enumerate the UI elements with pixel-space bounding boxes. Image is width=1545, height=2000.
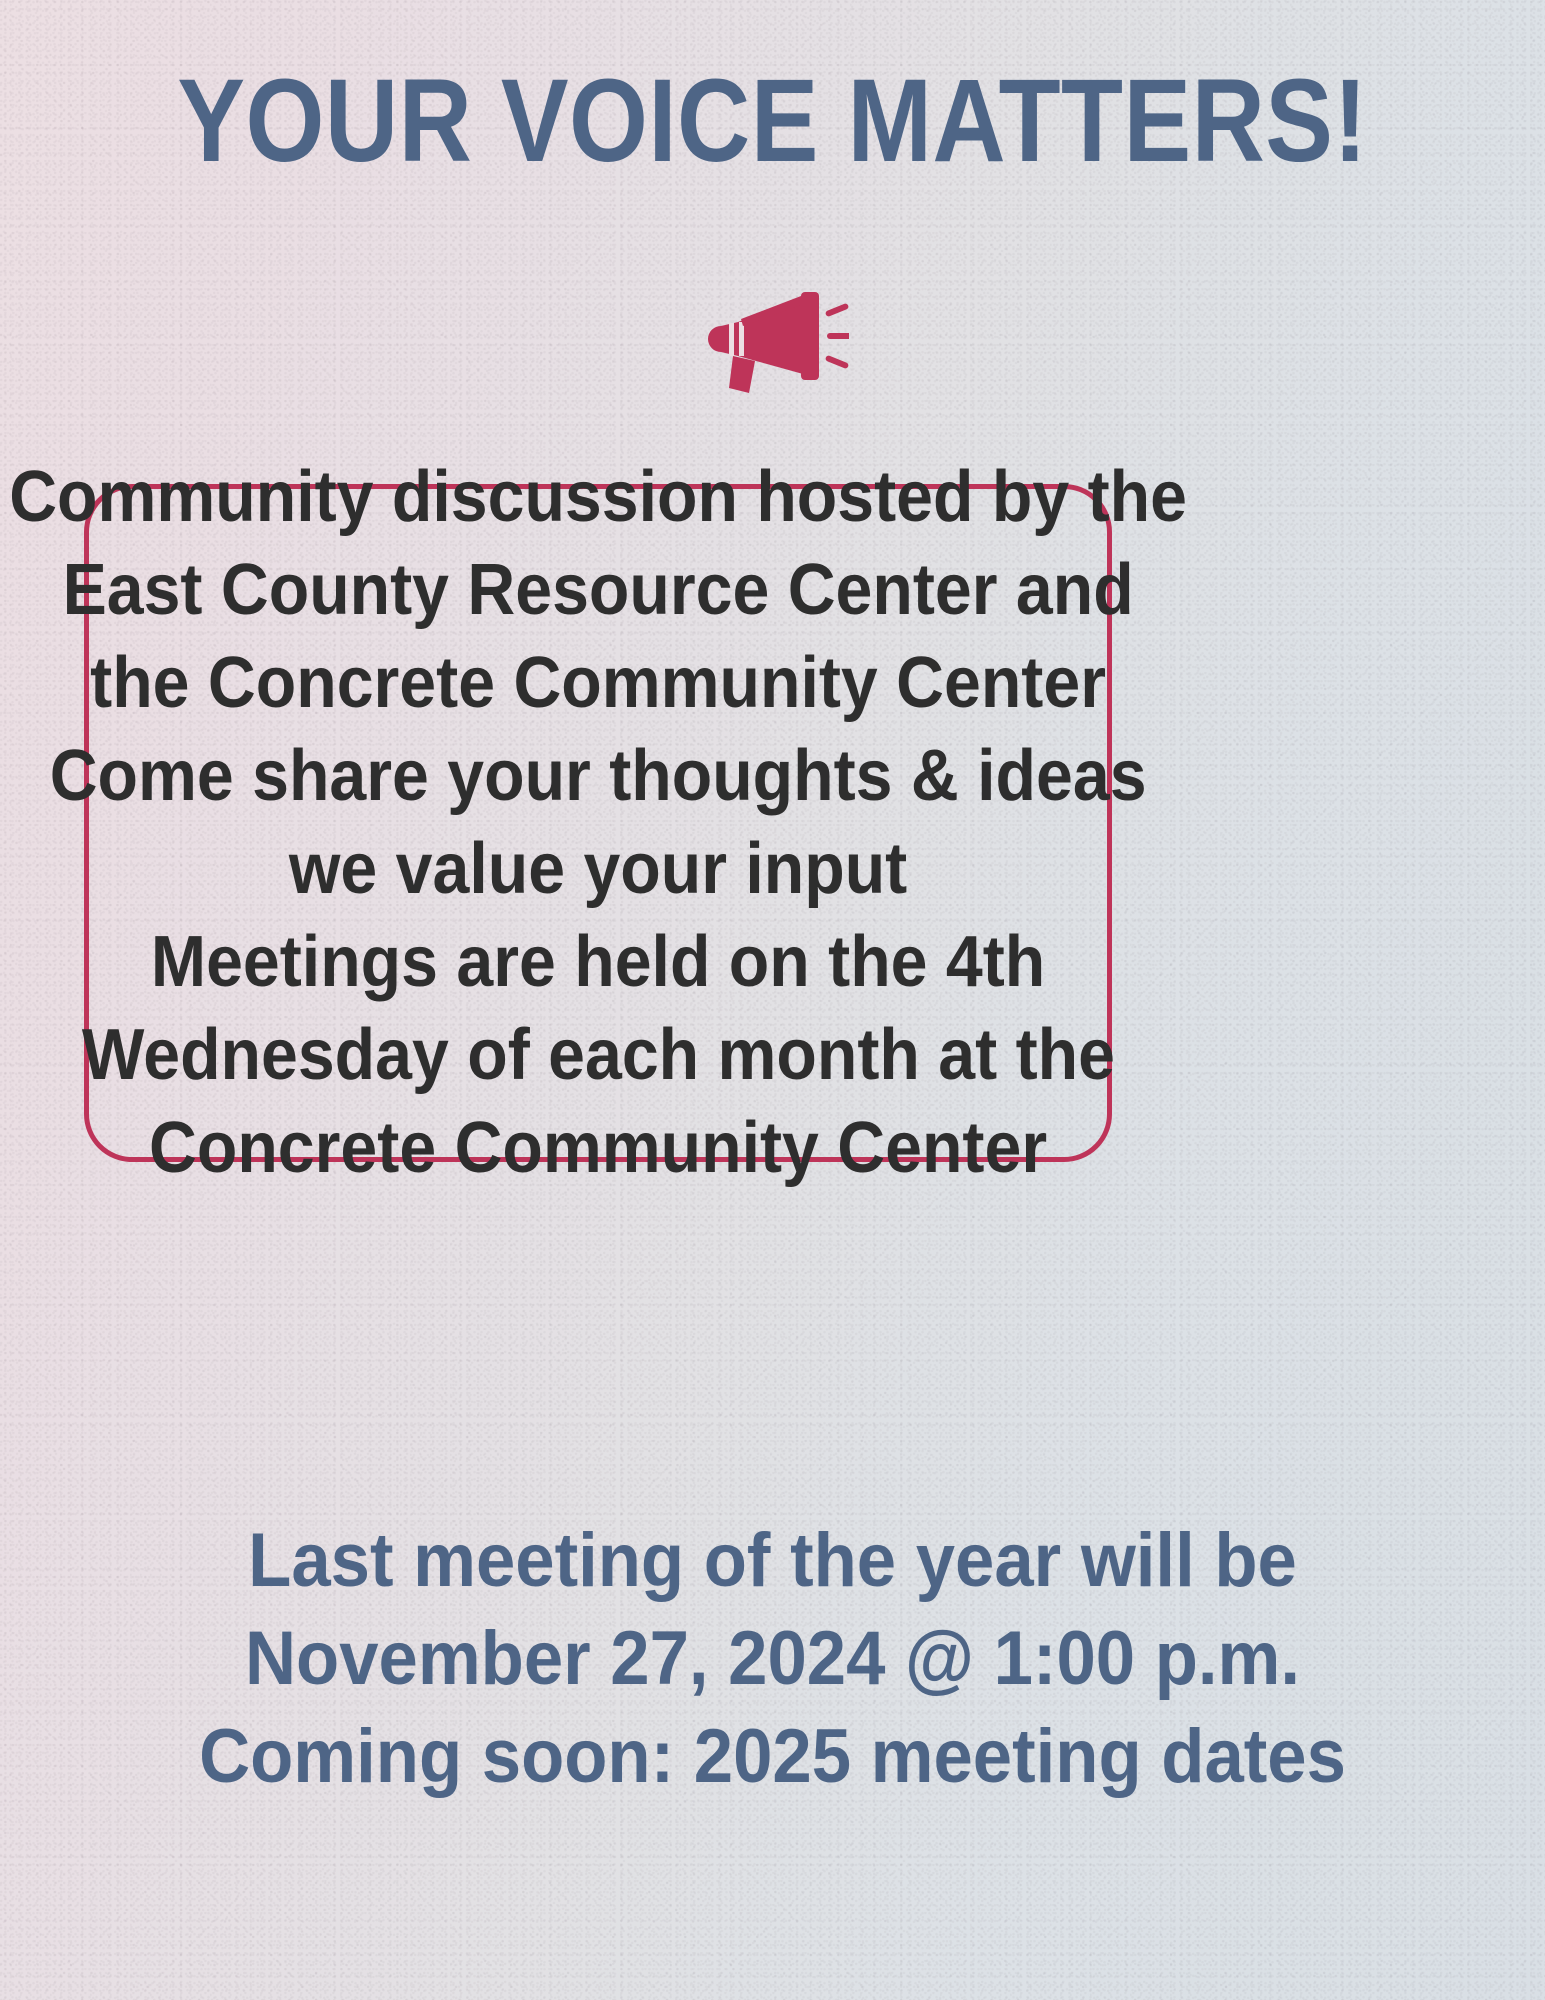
- info-box-line: East County Resource Center and: [62, 544, 1133, 637]
- footer-section: Last meeting of the year will be Novembe…: [0, 1512, 1545, 1806]
- poster-content: YOUR VOICE MATTERS!: [0, 0, 1545, 2000]
- info-box-line: Concrete Community Center: [149, 1102, 1047, 1195]
- info-box-line: the Concrete Community Center: [90, 637, 1106, 730]
- megaphone-icon: [697, 278, 849, 396]
- footer-line: Coming soon: 2025 meeting dates: [54, 1708, 1491, 1806]
- page-title: YOUR VOICE MATTERS!: [108, 62, 1437, 180]
- footer-line: November 27, 2024 @ 1:00 p.m.: [54, 1610, 1491, 1708]
- footer-line: Last meeting of the year will be: [54, 1512, 1491, 1610]
- info-box-line: we value your input: [289, 823, 907, 916]
- poster-canvas: YOUR VOICE MATTERS!: [0, 0, 1545, 2000]
- info-box-line: Come share your thoughts & ideas: [50, 730, 1147, 823]
- info-box-line: Community discussion hosted by the: [9, 451, 1187, 544]
- info-box-line: Wednesday of each month at the: [81, 1009, 1114, 1102]
- info-box: Community discussion hosted by the East …: [84, 484, 1112, 1162]
- megaphone-icon-container: [0, 278, 1545, 396]
- info-box-line: Meetings are held on the 4th: [151, 916, 1045, 1009]
